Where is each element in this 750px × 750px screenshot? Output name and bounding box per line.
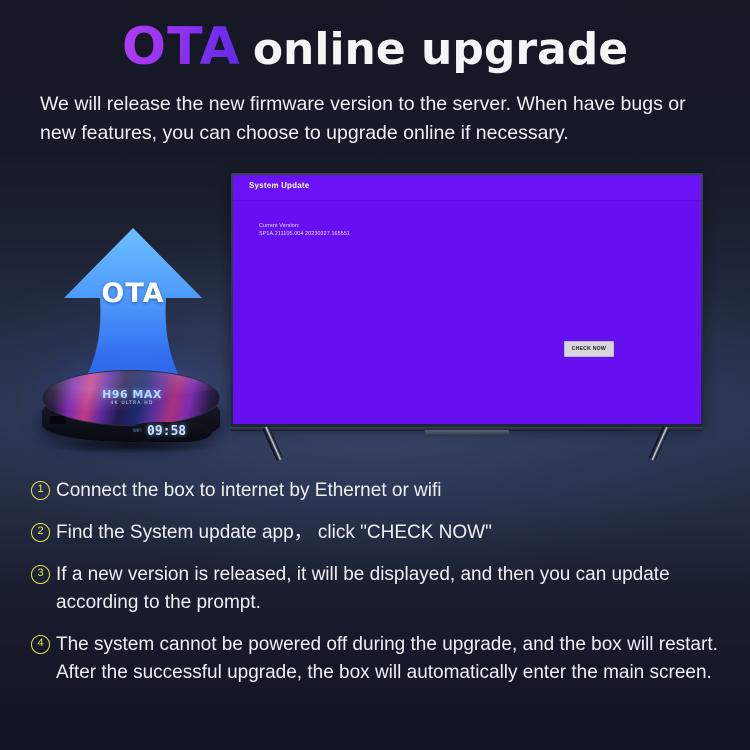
list-item: 4 The system cannot be powered off durin… — [31, 631, 721, 687]
device-led-display: WIFI 09:58 — [128, 422, 212, 442]
page-title: OTAonline upgrade — [0, 17, 750, 77]
step-text: The system cannot be powered off during … — [56, 631, 721, 687]
step-text: If a new version is released, it will be… — [56, 561, 721, 617]
step-number: 1 — [31, 481, 50, 500]
check-now-button[interactable]: CHECK NOW — [564, 341, 614, 357]
list-item: 2 Find the System update app， click "CHE… — [31, 519, 721, 547]
system-update-title: System Update — [249, 181, 309, 190]
device-top-surface: H96 MAX 4K ULTRA HD — [42, 370, 220, 426]
description-text: We will release the new firmware version… — [40, 90, 718, 148]
system-update-header: System Update — [233, 175, 701, 201]
current-version-label: Current Version: — [259, 223, 300, 229]
ota-upgrade-infographic: OTAonline upgrade We will release the ne… — [0, 0, 750, 750]
title-accent-ota: OTA — [122, 17, 241, 77]
tv-box-device: H96 MAX 4K ULTRA HD WIFI 09:58 — [36, 364, 226, 462]
step-number: 4 — [31, 635, 50, 654]
device-logo-sub: 4K ULTRA HD — [43, 401, 220, 406]
step-text: Connect the box to internet by Ethernet … — [56, 477, 442, 505]
device-led-time: 09:58 — [147, 424, 186, 439]
title-rest: online upgrade — [253, 24, 628, 75]
step-text: Find the System update app， click "CHECK… — [56, 519, 492, 547]
instruction-steps: 1 Connect the box to internet by Etherne… — [31, 477, 721, 701]
step-number: 2 — [31, 523, 50, 542]
list-item: 3 If a new version is released, it will … — [31, 561, 721, 617]
device-port — [50, 416, 66, 424]
list-item: 1 Connect the box to internet by Etherne… — [31, 477, 721, 505]
current-version-value: SP1A.211105.004 20230327.165551 — [259, 231, 350, 237]
system-update-body: Current Version: SP1A.211105.004 2023032… — [233, 201, 701, 424]
tv-screen: System Update Current Version: SP1A.2111… — [233, 175, 701, 424]
television: System Update Current Version: SP1A.2111… — [231, 173, 703, 427]
ota-arrow-label: OTA — [62, 278, 204, 309]
device-logo: H96 MAX — [43, 388, 220, 401]
wifi-icon: WIFI — [133, 428, 142, 433]
step-number: 3 — [31, 565, 50, 584]
tv-bezel: System Update Current Version: SP1A.2111… — [231, 173, 703, 427]
tv-center-clip — [425, 430, 509, 436]
